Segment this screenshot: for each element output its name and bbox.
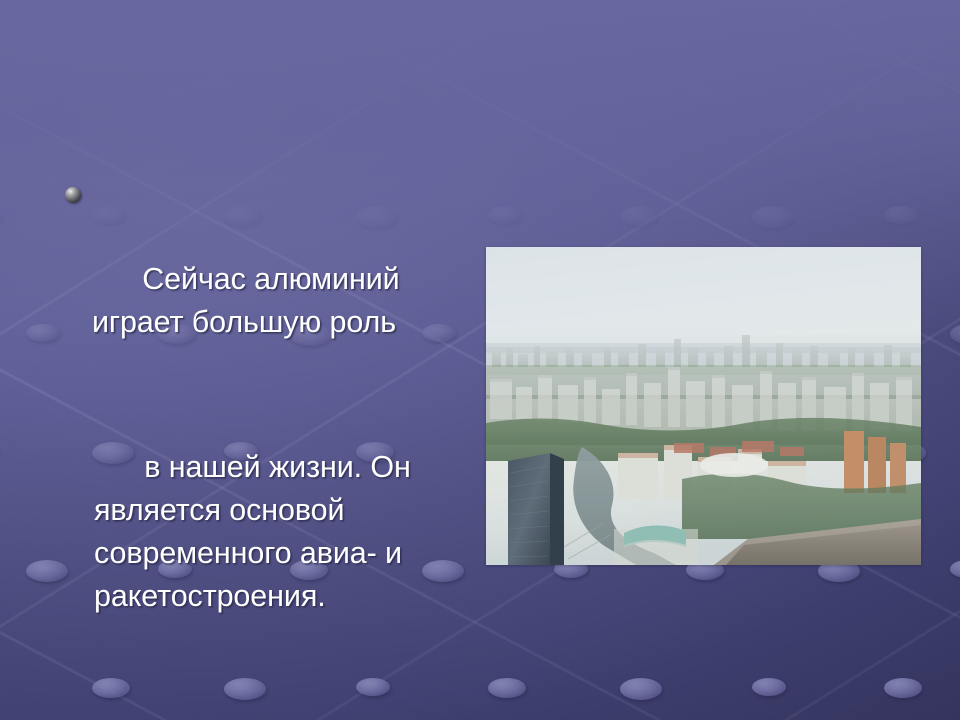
presentation-slide: Сейчас алюминий играет большую роль в на… xyxy=(0,0,960,720)
paragraph-2-text: в нашей жизни. Он является основой совре… xyxy=(94,450,419,613)
bullet-paragraph-1-text: Сейчас алюминий играет большую роль xyxy=(92,262,408,339)
bullet-paragraph-1: Сейчас алюминий играет большую роль xyxy=(52,172,452,387)
cityscape-photo-graphic xyxy=(486,247,921,565)
slide-body-text: Сейчас алюминий играет большую роль в на… xyxy=(52,172,452,661)
paragraph-2: в нашей жизни. Он является основой совре… xyxy=(60,403,452,661)
sphere-bullet-icon xyxy=(65,187,81,203)
cityscape-photo xyxy=(486,247,921,565)
